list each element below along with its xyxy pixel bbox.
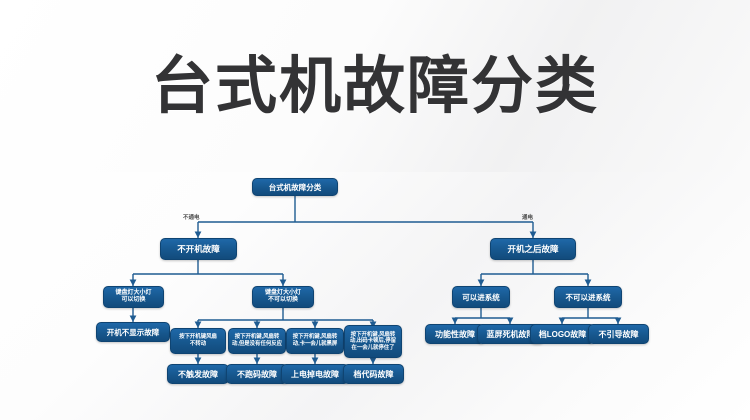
node-kb-not-switchable-line2: 不可以切换 <box>256 297 310 304</box>
page-title: 台式机故障分类 <box>151 55 599 117</box>
node-fan-not-spinning[interactable]: 按下开机键风扇 不转动 <box>170 328 226 354</box>
node-no-trigger-fault[interactable]: 不触发故障 <box>167 364 229 384</box>
node-no-post-code-fault-label: 不跑码故障 <box>230 369 284 380</box>
node-fan-spin-black-screen-line1: 按下开机键,风扇转 <box>290 334 340 341</box>
node-functional-fault-label: 功能性故障 <box>429 329 481 340</box>
node-stuck-code-fault[interactable]: 档代码故障 <box>343 364 404 384</box>
node-stuck-logo-fault-label: 档LOGO故障 <box>534 329 591 340</box>
node-no-bootloader-fault-label: 不引导故障 <box>592 329 645 340</box>
node-fan-spin-no-response[interactable]: 按下开机键,风扇转 动,但是没有任何反应 <box>228 328 286 354</box>
node-kb-not-switchable-line1: 键盘灯大小灯 <box>256 290 310 297</box>
node-stuck-code-fault-label: 档代码故障 <box>347 369 400 380</box>
node-fan-spin-no-response-line1: 按下开机键,风扇转 <box>232 334 282 341</box>
title-banner: 台式机故障分类 <box>0 0 750 172</box>
node-kb-switchable-line2: 可以切换 <box>107 297 160 304</box>
edge-label-left: 不通电 <box>183 213 200 221</box>
node-keyboard-light-switchable[interactable]: 键盘灯大小灯 可以切换 <box>103 286 164 308</box>
node-fan-spin-no-response-line2: 动,但是没有任何反应 <box>232 341 282 348</box>
node-no-bootloader-fault[interactable]: 不引导故障 <box>588 324 649 344</box>
node-after-boot[interactable]: 开机之后故障 <box>490 238 576 260</box>
node-power-drop-fault-label: 上电掉电故障 <box>285 369 345 380</box>
node-fan-spin-black-screen-line2: 动,卡一会儿就黑屏 <box>290 341 340 348</box>
node-fan-spin-black-screen[interactable]: 按下开机键,风扇转 动,卡一会儿就黑屏 <box>286 328 344 354</box>
node-fan-not-spinning-line2: 不转动 <box>174 341 222 348</box>
node-no-display-fault[interactable]: 开机不显示故障 <box>96 322 170 342</box>
node-after-boot-label: 开机之后故障 <box>494 243 572 255</box>
node-can-enter-system[interactable]: 可以进系统 <box>452 286 510 308</box>
node-no-post-code-fault[interactable]: 不跑码故障 <box>226 364 288 384</box>
node-fan-spin-code-stuck-line2: 动,出码卡顿后,停留 <box>348 338 398 345</box>
node-fan-spin-code-stuck-line3: 在一会儿就停住了 <box>348 345 398 352</box>
flowchart: 不通电 通电 台式机故障分类 不开机故障 开机之后故障 键盘灯大小灯 可以切换 … <box>0 168 750 420</box>
node-root[interactable]: 台式机故障分类 <box>252 178 338 196</box>
node-cannot-enter-system[interactable]: 不可以进系统 <box>554 286 622 308</box>
node-no-boot[interactable]: 不开机故障 <box>160 238 237 260</box>
node-kb-switchable-line1: 键盘灯大小灯 <box>107 290 160 297</box>
node-functional-fault[interactable]: 功能性故障 <box>425 324 485 344</box>
node-stuck-logo-fault[interactable]: 档LOGO故障 <box>530 324 595 344</box>
node-no-trigger-fault-label: 不触发故障 <box>171 369 225 380</box>
node-keyboard-light-not-switchable[interactable]: 键盘灯大小灯 不可以切换 <box>252 286 314 308</box>
node-no-boot-label: 不开机故障 <box>164 243 233 255</box>
node-can-enter-system-label: 可以进系统 <box>456 292 506 303</box>
node-power-drop-fault[interactable]: 上电掉电故障 <box>281 364 349 384</box>
node-fan-spin-code-stuck[interactable]: 按下开机键,风扇转 动,出码卡顿后,停留 在一会儿就停住了 <box>344 325 402 358</box>
diagram-canvas: 台式机故障分类 <box>0 0 750 420</box>
edge-label-right: 通电 <box>522 213 533 221</box>
node-root-label: 台式机故障分类 <box>256 182 334 193</box>
node-fan-not-spinning-line1: 按下开机键风扇 <box>174 334 222 341</box>
node-no-display-fault-label: 开机不显示故障 <box>100 327 166 338</box>
node-cannot-enter-system-label: 不可以进系统 <box>558 292 618 303</box>
